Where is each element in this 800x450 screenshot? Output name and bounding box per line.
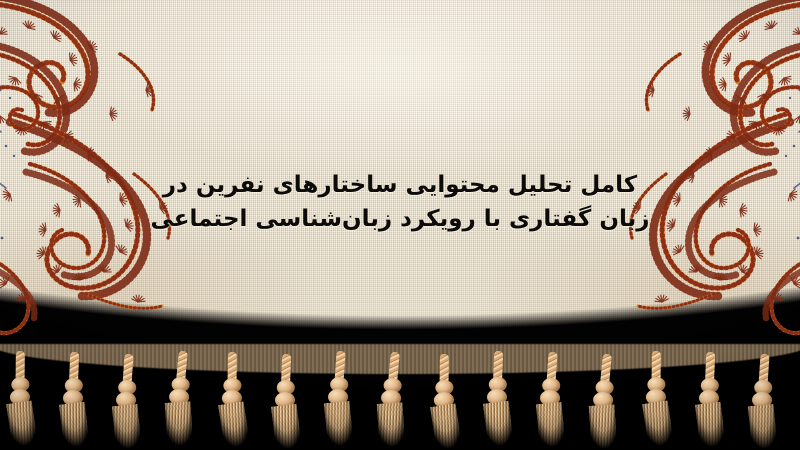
tassel-skirt [642,400,674,447]
tassel-skirt [218,401,250,448]
tassel [375,351,409,448]
tassel-skirt [165,401,194,447]
tassel [587,353,621,450]
tassel-skirt [483,400,514,447]
tassel-skirt [6,400,38,447]
tassel [270,353,301,449]
tassel-skirt [271,403,302,450]
tassel-skirt [324,400,354,446]
tassel [58,352,89,448]
tassel-fringe [0,352,800,450]
tassel-skirt [536,402,566,448]
tassel-skirt [59,402,90,449]
tassel [482,350,513,446]
title-line-1: کامل تحلیل محتوایی ساختارهای نفرین در [0,168,800,202]
title-card-canvas: کامل تحلیل محتوایی ساختارهای نفرین در زب… [0,0,800,450]
tassel-skirt [748,403,778,449]
tassel-skirt [695,402,726,449]
tassel [428,353,462,450]
tassel [216,351,250,448]
page-title: کامل تحلیل محتوایی ساختارهای نفرین در زب… [0,168,800,236]
tassel-skirt [112,403,142,449]
tassel-skirt [589,404,618,450]
tassel [111,353,142,449]
tassel [694,352,725,448]
tassel [640,350,674,447]
tassel-skirt [430,403,462,450]
tassel [323,350,354,446]
tassel [747,353,778,449]
tassel [4,350,38,447]
tassel [163,350,197,447]
tassel [535,352,566,448]
title-line-2: زبان گفتاری با رویکرد زبان‌شناسی اجتماعی [0,202,800,236]
tassel-skirt [377,402,406,448]
